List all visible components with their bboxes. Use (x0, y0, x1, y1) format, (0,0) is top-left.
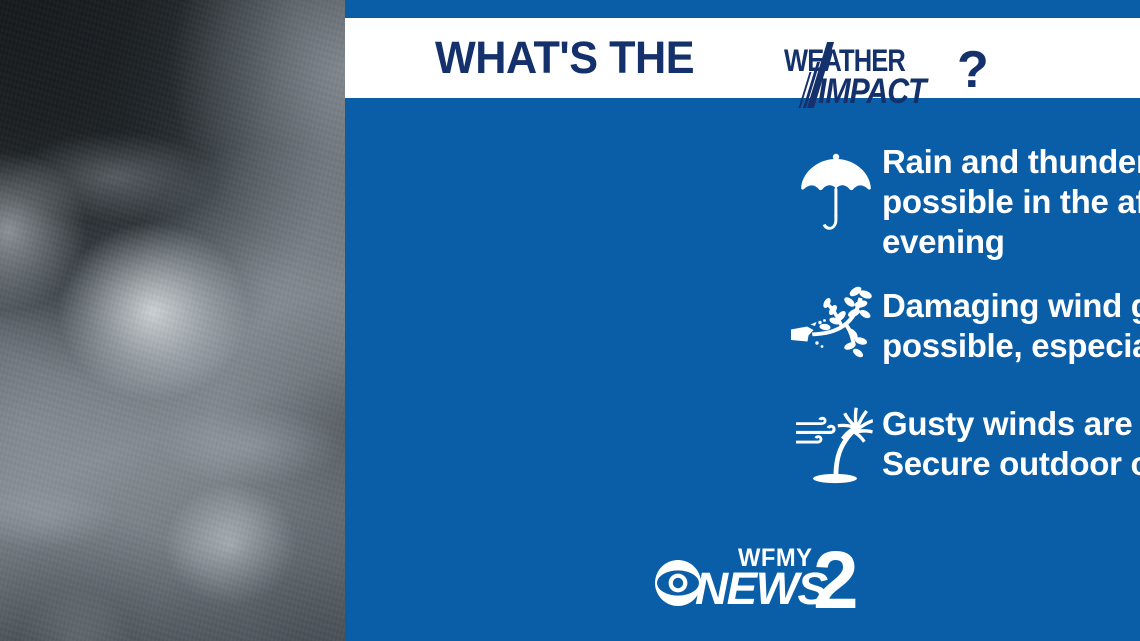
bullet-text-rain: Rain and thunderstorms arepossible in th… (882, 142, 1140, 262)
windy-palm-tree-icon (793, 404, 873, 493)
station-channel-number: 2 (813, 540, 856, 622)
broken-branch-icon (791, 283, 875, 366)
storm-cloud-photo (0, 0, 345, 641)
bullet-text-gusty-winds: Gusty winds are likelySecure outdoor obj… (882, 404, 1140, 484)
bullet-text-wind-gusts: Damaging wind gusts arepossible, especia… (882, 286, 1140, 366)
station-news-word: NEWS (695, 563, 827, 615)
info-panel: WHAT'S THE WEATHER IMPACT ? (345, 0, 1140, 641)
header-band: WHAT'S THE WEATHER IMPACT ? (345, 18, 1140, 98)
question-mark: ? (957, 40, 989, 100)
station-logo: WFMY NEWS 2 (655, 538, 865, 610)
umbrella-icon (800, 150, 872, 239)
logo-impact-text: IMPACT (818, 71, 925, 111)
page-title: WHAT'S THE (435, 32, 694, 84)
photo-grain-layer (0, 0, 345, 641)
weather-impact-graphic: WHAT'S THE WEATHER IMPACT ? (0, 0, 1140, 641)
